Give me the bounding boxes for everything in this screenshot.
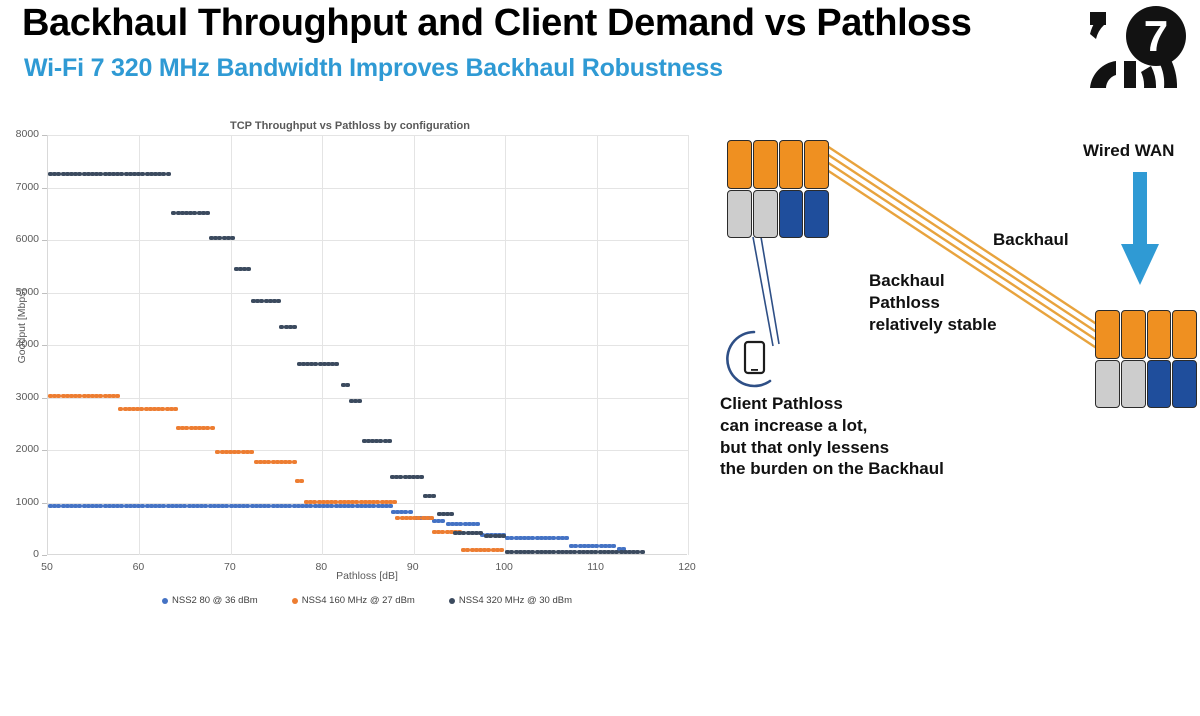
ap-radio-cell (1147, 360, 1172, 409)
chart-gridline (48, 450, 688, 451)
chart-x-tick-label: 120 (667, 561, 707, 573)
chart-gridline (505, 135, 506, 555)
network-diagram: Wired WAN Backhaul Backhaul Pathloss rel… (705, 110, 1200, 612)
chart-y-tick-label: 4000 (0, 338, 39, 350)
chart-legend-item[interactable]: NSS4 320 MHz @ 30 dBm (449, 595, 572, 606)
chart-x-tick-label: 100 (484, 561, 524, 573)
chart-legend: NSS2 80 @ 36 dBmNSS4 160 MHz @ 27 dBmNSS… (47, 595, 687, 606)
wired-wan-arrow-icon (1117, 172, 1163, 287)
chart-y-tick-label: 0 (0, 548, 39, 560)
throughput-chart: TCP Throughput vs Pathloss by configurat… (0, 110, 705, 612)
label-wired-wan: Wired WAN (1083, 140, 1174, 162)
chart-data-point (564, 536, 569, 540)
chart-data-point (166, 172, 171, 176)
chart-data-point (501, 534, 506, 538)
chart-y-tick-label: 6000 (0, 233, 39, 245)
chart-legend-item[interactable]: NSS4 160 MHz @ 27 dBm (292, 595, 415, 606)
chart-y-tick-label: 5000 (0, 286, 39, 298)
chart-data-point (173, 407, 178, 411)
chart-x-tick-label: 70 (210, 561, 250, 573)
chart-y-tickmark (42, 450, 47, 451)
ap-radio-cell (779, 140, 804, 189)
ap-radio-cell (779, 190, 804, 239)
chart-data-point (392, 500, 397, 504)
chart-y-tickmark (42, 240, 47, 241)
ap-radio-cell (1147, 310, 1172, 359)
page-subtitle: Wi-Fi 7 320 MHz Bandwidth Improves Backh… (24, 54, 1064, 83)
chart-gridline (48, 135, 688, 136)
chart-gridline (597, 135, 598, 555)
ap-radio-cell (1095, 360, 1120, 409)
chart-y-tickmark (42, 135, 47, 136)
chart-data-point (334, 362, 339, 366)
ap-radio-cell (804, 190, 829, 239)
chart-data-point (431, 494, 436, 498)
ap-radio-cell (1172, 360, 1197, 409)
chart-data-point (292, 460, 297, 464)
ap-radio-cell (1172, 310, 1197, 359)
chart-gridline (231, 135, 232, 555)
chart-plot-area (47, 135, 687, 555)
chart-data-point (640, 550, 645, 554)
chart-x-tick-label: 80 (301, 561, 341, 573)
label-backhaul-note: Backhaul Pathloss relatively stable (869, 270, 997, 335)
chart-legend-label: NSS4 320 MHz @ 30 dBm (459, 595, 572, 606)
ap-radio-cell (804, 140, 829, 189)
chart-data-point (299, 479, 304, 483)
label-backhaul: Backhaul (993, 229, 1069, 251)
chart-gridline (48, 293, 688, 294)
chart-gridline (48, 188, 688, 189)
wifi-7-logo-icon: 7 (1084, 4, 1196, 96)
chart-data-point (440, 519, 445, 523)
chart-title: TCP Throughput vs Pathloss by configurat… (140, 120, 560, 132)
chart-gridline (48, 240, 688, 241)
chart-data-point (475, 522, 480, 526)
chart-y-tickmark (42, 293, 47, 294)
ap-radio-cell (1121, 360, 1146, 409)
ap-radio-cell (727, 140, 752, 189)
page-title: Backhaul Throughput and Client Demand vs… (22, 2, 1082, 45)
chart-data-point (210, 426, 215, 430)
chart-x-tick-label: 50 (27, 561, 67, 573)
chart-gridline (322, 135, 323, 555)
chart-data-point (408, 510, 413, 514)
chart-x-tick-label: 110 (576, 561, 616, 573)
chart-gridline (48, 398, 688, 399)
wifi-7-logo-number: 7 (1144, 12, 1168, 61)
ap-radio-cell (753, 140, 778, 189)
label-client-note: Client Pathloss can increase a lot, but … (720, 393, 944, 480)
smartphone-icon (745, 342, 764, 373)
chart-gridline (48, 345, 688, 346)
chart-data-point (205, 211, 210, 215)
chart-data-point (345, 383, 350, 387)
chart-gridline (688, 135, 689, 555)
chart-y-tick-label: 7000 (0, 181, 39, 193)
chart-data-point (419, 475, 424, 479)
chart-y-tick-label: 2000 (0, 443, 39, 455)
chart-data-point (478, 531, 483, 535)
chart-legend-swatch (162, 598, 168, 604)
chart-data-point (292, 325, 297, 329)
ap-radio-cell (727, 190, 752, 239)
chart-y-tick-label: 8000 (0, 128, 39, 140)
chart-data-point (611, 544, 616, 548)
chart-data-point (357, 399, 362, 403)
chart-legend-label: NSS2 80 @ 36 dBm (172, 595, 258, 606)
client-device (723, 328, 785, 390)
chart-gridline (414, 135, 415, 555)
chart-y-tickmark (42, 188, 47, 189)
chart-data-point (388, 504, 393, 508)
chart-x-tick-label: 90 (393, 561, 433, 573)
chart-data-point (449, 512, 454, 516)
chart-data-point (230, 236, 235, 240)
chart-y-axis-label: Goodput [Mbps] (16, 266, 28, 386)
chart-data-point (276, 299, 281, 303)
ap-radio-cell (1095, 310, 1120, 359)
chart-data-point (246, 267, 251, 271)
ap-radio-cell (1121, 310, 1146, 359)
chart-legend-swatch (449, 598, 455, 604)
chart-y-tick-label: 1000 (0, 496, 39, 508)
chart-y-tickmark (42, 398, 47, 399)
slide-header: Backhaul Throughput and Client Demand vs… (0, 0, 1200, 100)
chart-gridline (139, 135, 140, 555)
chart-y-tick-label: 3000 (0, 391, 39, 403)
gateway-ap (1095, 310, 1197, 408)
ap-radio-cell (753, 190, 778, 239)
chart-legend-swatch (292, 598, 298, 604)
chart-y-tickmark (42, 555, 47, 556)
chart-legend-label: NSS4 160 MHz @ 27 dBm (302, 595, 415, 606)
chart-y-tickmark (42, 345, 47, 346)
chart-legend-item[interactable]: NSS2 80 @ 36 dBm (162, 595, 258, 606)
chart-data-point (387, 439, 392, 443)
chart-data-point (499, 548, 504, 552)
chart-data-point (249, 450, 254, 454)
chart-x-tick-label: 60 (118, 561, 158, 573)
mesh-node-ap (727, 140, 829, 238)
chart-y-tickmark (42, 503, 47, 504)
